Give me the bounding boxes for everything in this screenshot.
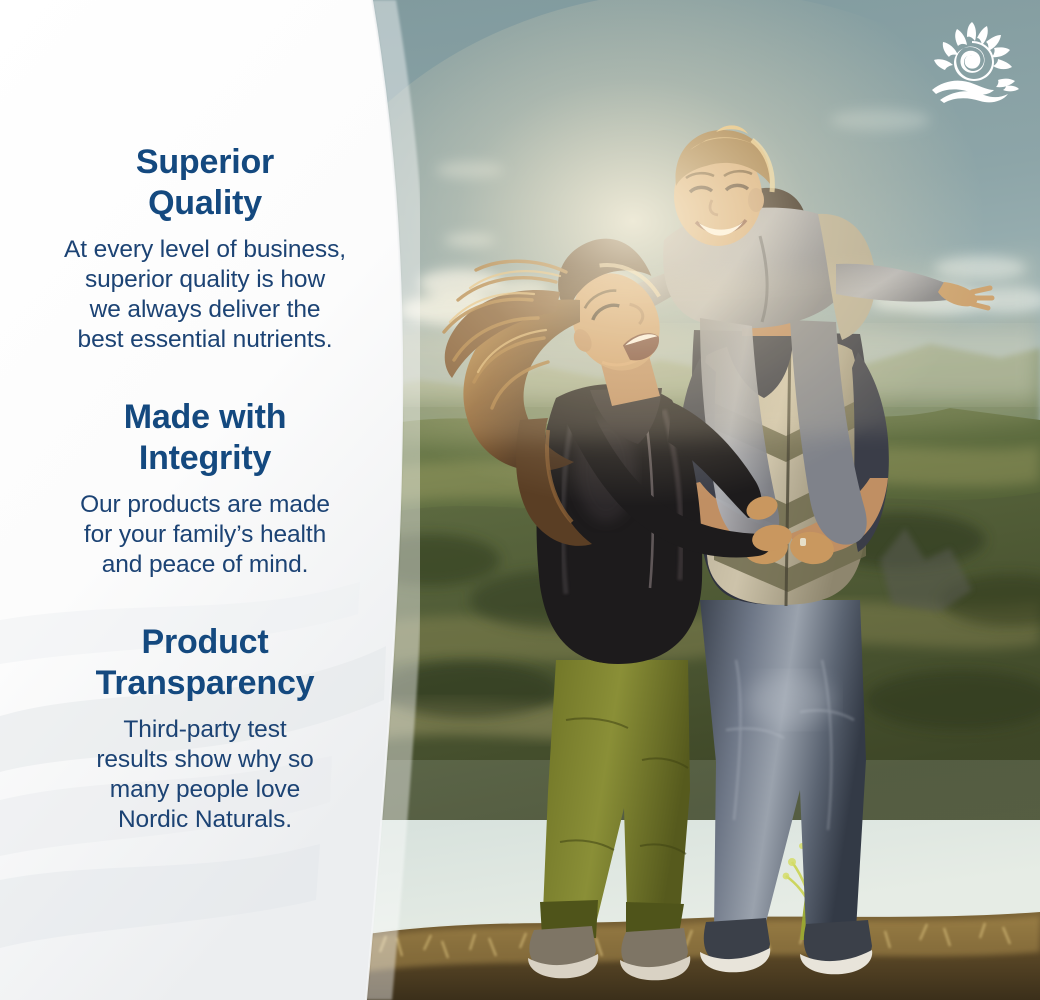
- value-block-heading: Superior Quality: [10, 142, 400, 224]
- value-block-heading: Made with Integrity: [10, 397, 400, 479]
- sun-and-waves-logo-icon: [926, 20, 1022, 106]
- value-block-superior-quality: Superior Quality At every level of busin…: [10, 142, 400, 355]
- value-block-body: At every level of business, superior qua…: [10, 235, 400, 355]
- value-block-body: Our products are made for your family’s …: [10, 490, 400, 580]
- value-props-column: Superior Quality At every level of busin…: [0, 0, 400, 1000]
- promo-banner: Superior Quality At every level of busin…: [0, 0, 1040, 1000]
- value-block-made-with-integrity: Made with Integrity Our products are mad…: [10, 397, 400, 580]
- value-block-body: Third-party test results show why so man…: [10, 715, 400, 835]
- value-block-heading: Product Transparency: [10, 622, 400, 704]
- value-block-product-transparency: Product Transparency Third-party test re…: [10, 622, 400, 835]
